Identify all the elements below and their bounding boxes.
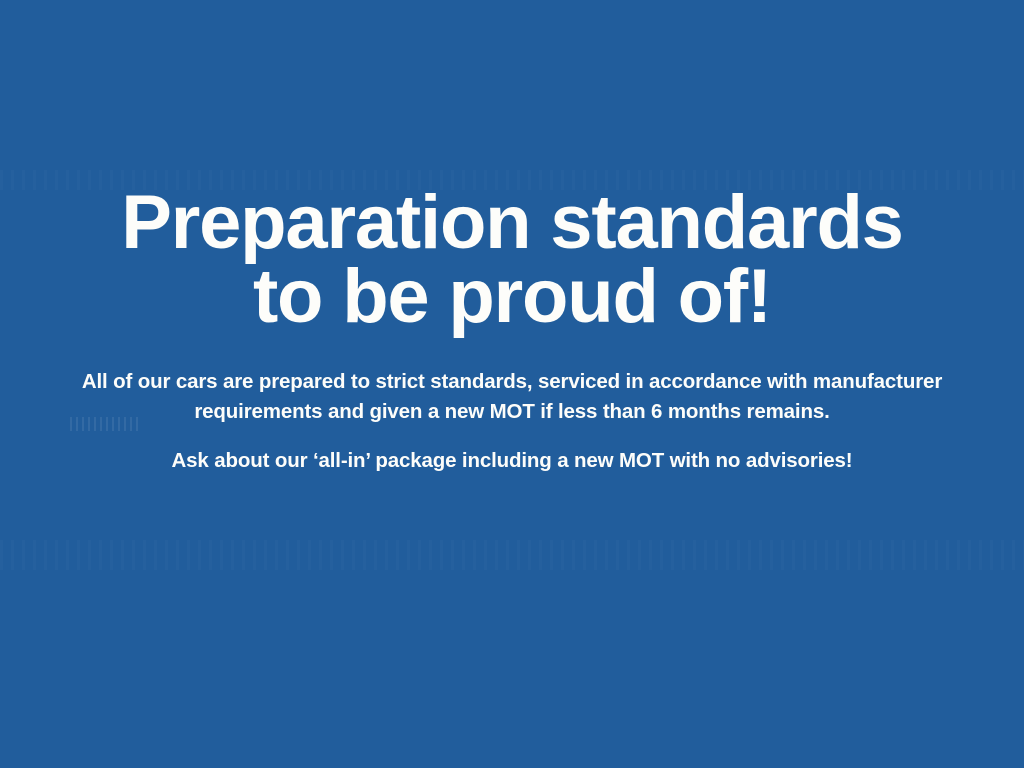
page-title: Preparation standards to be proud of! — [48, 0, 976, 333]
body-paragraph-preparation: All of our cars are prepared to strict s… — [72, 367, 952, 425]
body-paragraph-allin-offer: Ask about our ‘all-in’ package including… — [62, 446, 962, 475]
slide-canvas: Preparation standards to be proud of! Al… — [0, 0, 1024, 768]
page-title-line-1: Preparation standards — [48, 186, 976, 260]
compression-artifact-bottom — [0, 540, 1024, 570]
slide-content: Preparation standards to be proud of! Al… — [0, 0, 1024, 475]
page-title-line-2: to be proud of! — [48, 260, 976, 334]
body-text-block: All of our cars are prepared to strict s… — [48, 333, 976, 474]
